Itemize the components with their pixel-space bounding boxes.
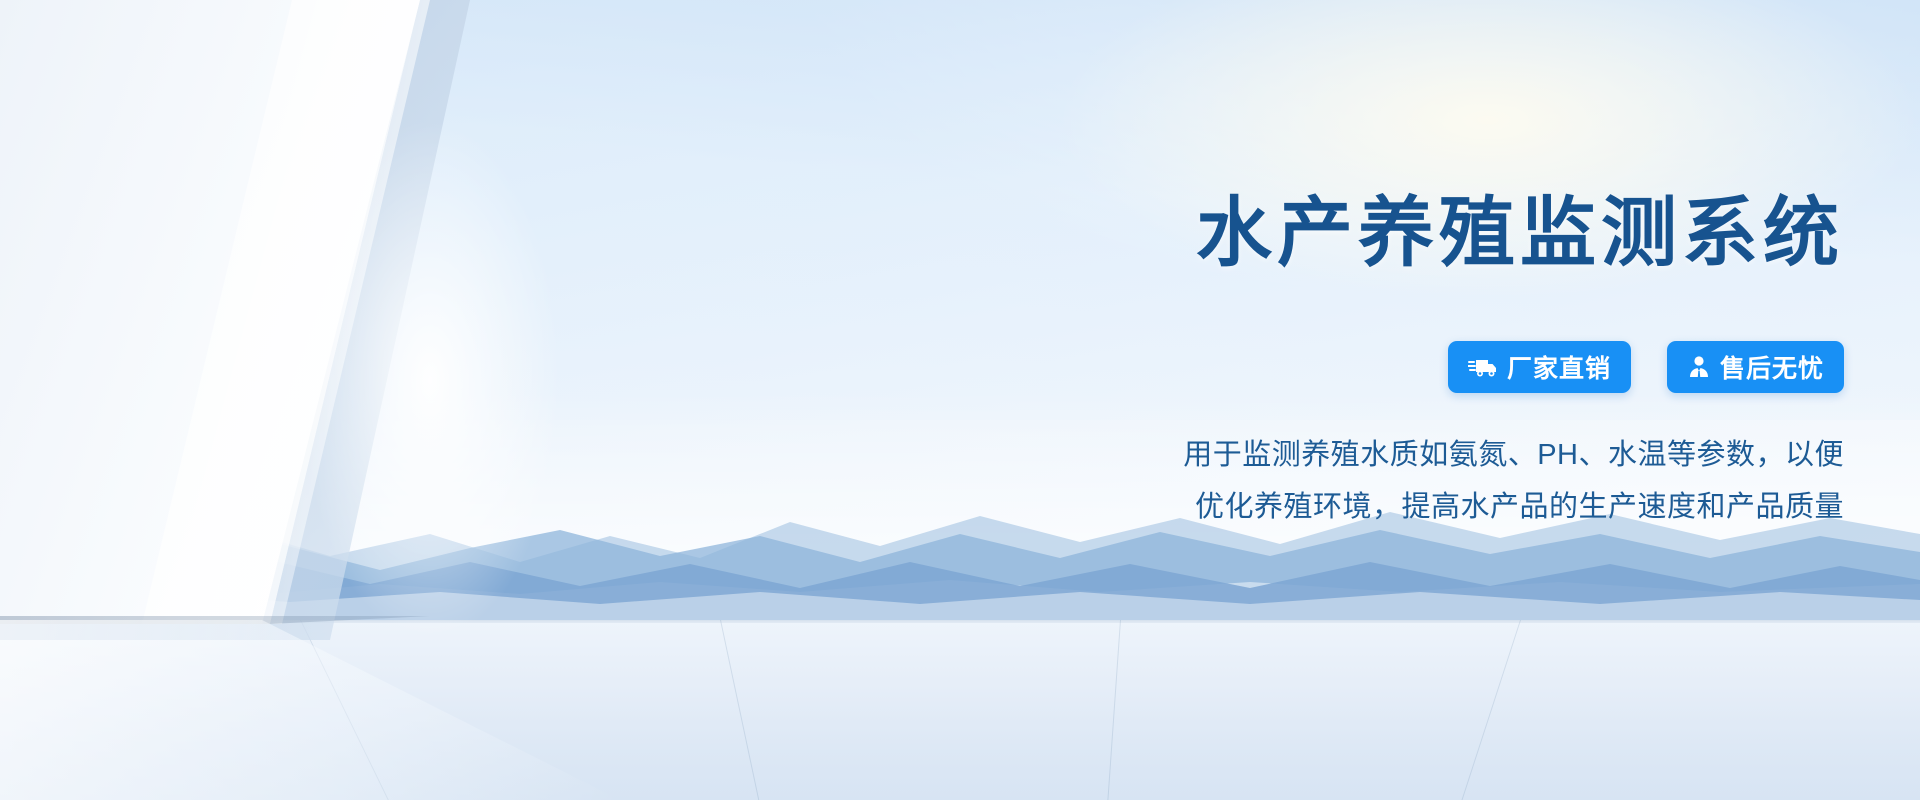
person-support-icon xyxy=(1687,355,1711,379)
badge-group: 厂家直销 售后无忧 xyxy=(1448,341,1844,393)
page-title: 水产养殖监测系统 xyxy=(1196,196,1844,272)
hero-banner: 水产养殖监测系统 厂家直销 xyxy=(0,0,1920,800)
description: 用于监测养殖水质如氨氮、PH、水温等参数，以便 优化养殖环境，提高水产品的生产速… xyxy=(1034,430,1844,533)
badge-factory-direct[interactable]: 厂家直销 xyxy=(1448,341,1631,393)
description-line-1: 用于监测养殖水质如氨氮、PH、水温等参数，以便 xyxy=(1034,430,1844,482)
badge-label: 售后无忧 xyxy=(1720,349,1824,385)
building-glow xyxy=(300,120,560,640)
badge-label: 厂家直销 xyxy=(1507,349,1611,385)
truck-icon xyxy=(1468,356,1498,378)
hero-content: 水产养殖监测系统 厂家直销 xyxy=(1044,0,1844,800)
badge-after-sales[interactable]: 售后无忧 xyxy=(1667,341,1844,393)
description-line-2: 优化养殖环境，提高水产品的生产速度和产品质量 xyxy=(1034,482,1844,534)
